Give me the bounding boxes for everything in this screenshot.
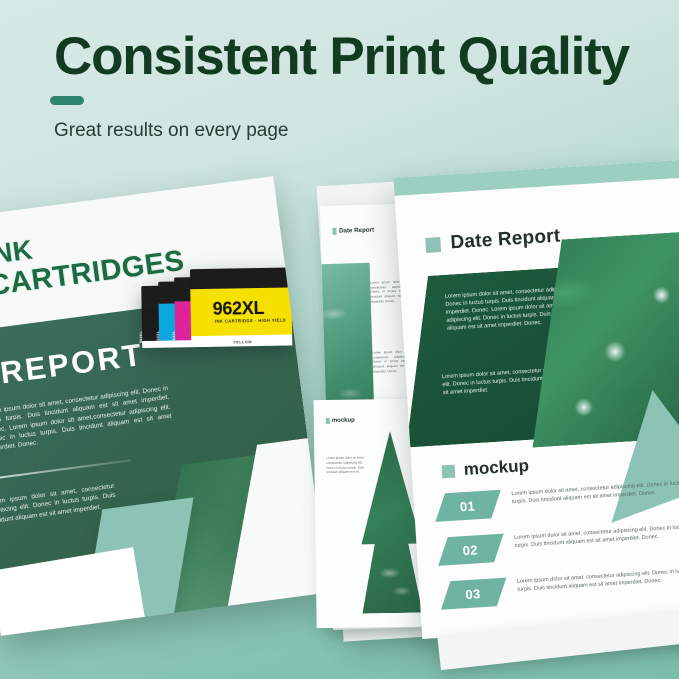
mockup-text-01: Lorem ipsum dolor sit amet, consectetur …: [511, 479, 679, 507]
mockup-number-chip-03: 03: [441, 578, 506, 610]
accent-dash-divider: [50, 96, 84, 105]
mockup-page-tab: mockup: [326, 418, 355, 424]
date-report-heading: Date Report: [425, 226, 561, 256]
ink-cartridge-pack: 962XL 962XL 962XL 962XL INK CARTRIDGE · …: [141, 263, 292, 348]
mockup-tab-label: mockup: [332, 418, 355, 424]
header-banner: Consistent Print Quality Great results o…: [0, 0, 679, 180]
mockup-number-chip-01: 01: [435, 490, 500, 522]
cartridge-yellow-top: [190, 267, 291, 288]
cartridge-subtitle: INK CARTRIDGE · HIGH YIELD: [215, 318, 286, 324]
mockup-page-paragraph: Lorem ipsum dolor sit amet, consectetur …: [326, 455, 366, 475]
mockup-title: mockup: [463, 456, 529, 480]
mockup-list: 01 Lorem ipsum dolor sit amet, consectet…: [439, 478, 679, 625]
mockup-tab-square-icon: [326, 418, 330, 424]
left-brochure-page: INK CARTRIDGES REPORT Lorem ipsum dolor …: [0, 176, 328, 635]
spine-tab-square-icon: [332, 228, 336, 235]
mockup-number-02: 02: [463, 542, 479, 558]
date-report-square-icon: [425, 237, 441, 253]
mockup-number-03: 03: [466, 586, 482, 602]
left-brochure: INK CARTRIDGES REPORT Lorem ipsum dolor …: [0, 176, 328, 635]
right-brochure: Date Report Lorem ipsum dolor sit amet, …: [284, 159, 679, 656]
spine-date-report-tab: Date Report: [332, 227, 374, 235]
cartridge-color-label: YELLOW: [233, 340, 252, 344]
cartridge-model-number: 962XL: [212, 298, 264, 320]
mockup-square-icon: [441, 464, 455, 478]
right-brochure-mockup-page: mockup Lorem ipsum dolor sit amet, conse…: [314, 399, 425, 628]
page-title: Consistent Print Quality: [54, 30, 629, 83]
right-brochure-main-page: Date Report Lorem ipsum dolor sit amet, …: [393, 160, 679, 639]
mockup-heading: mockup: [441, 456, 529, 481]
spine-tab-label: Date Report: [339, 227, 374, 235]
page-subtitle: Great results on every page: [54, 120, 288, 142]
mockup-number-chip-02: 02: [438, 534, 503, 566]
date-report-title: Date Report: [450, 226, 561, 255]
mockup-number-01: 01: [460, 498, 476, 514]
cartridge-yellow: 962XL INK CARTRIDGE · HIGH YIELD YELLOW: [190, 267, 292, 347]
